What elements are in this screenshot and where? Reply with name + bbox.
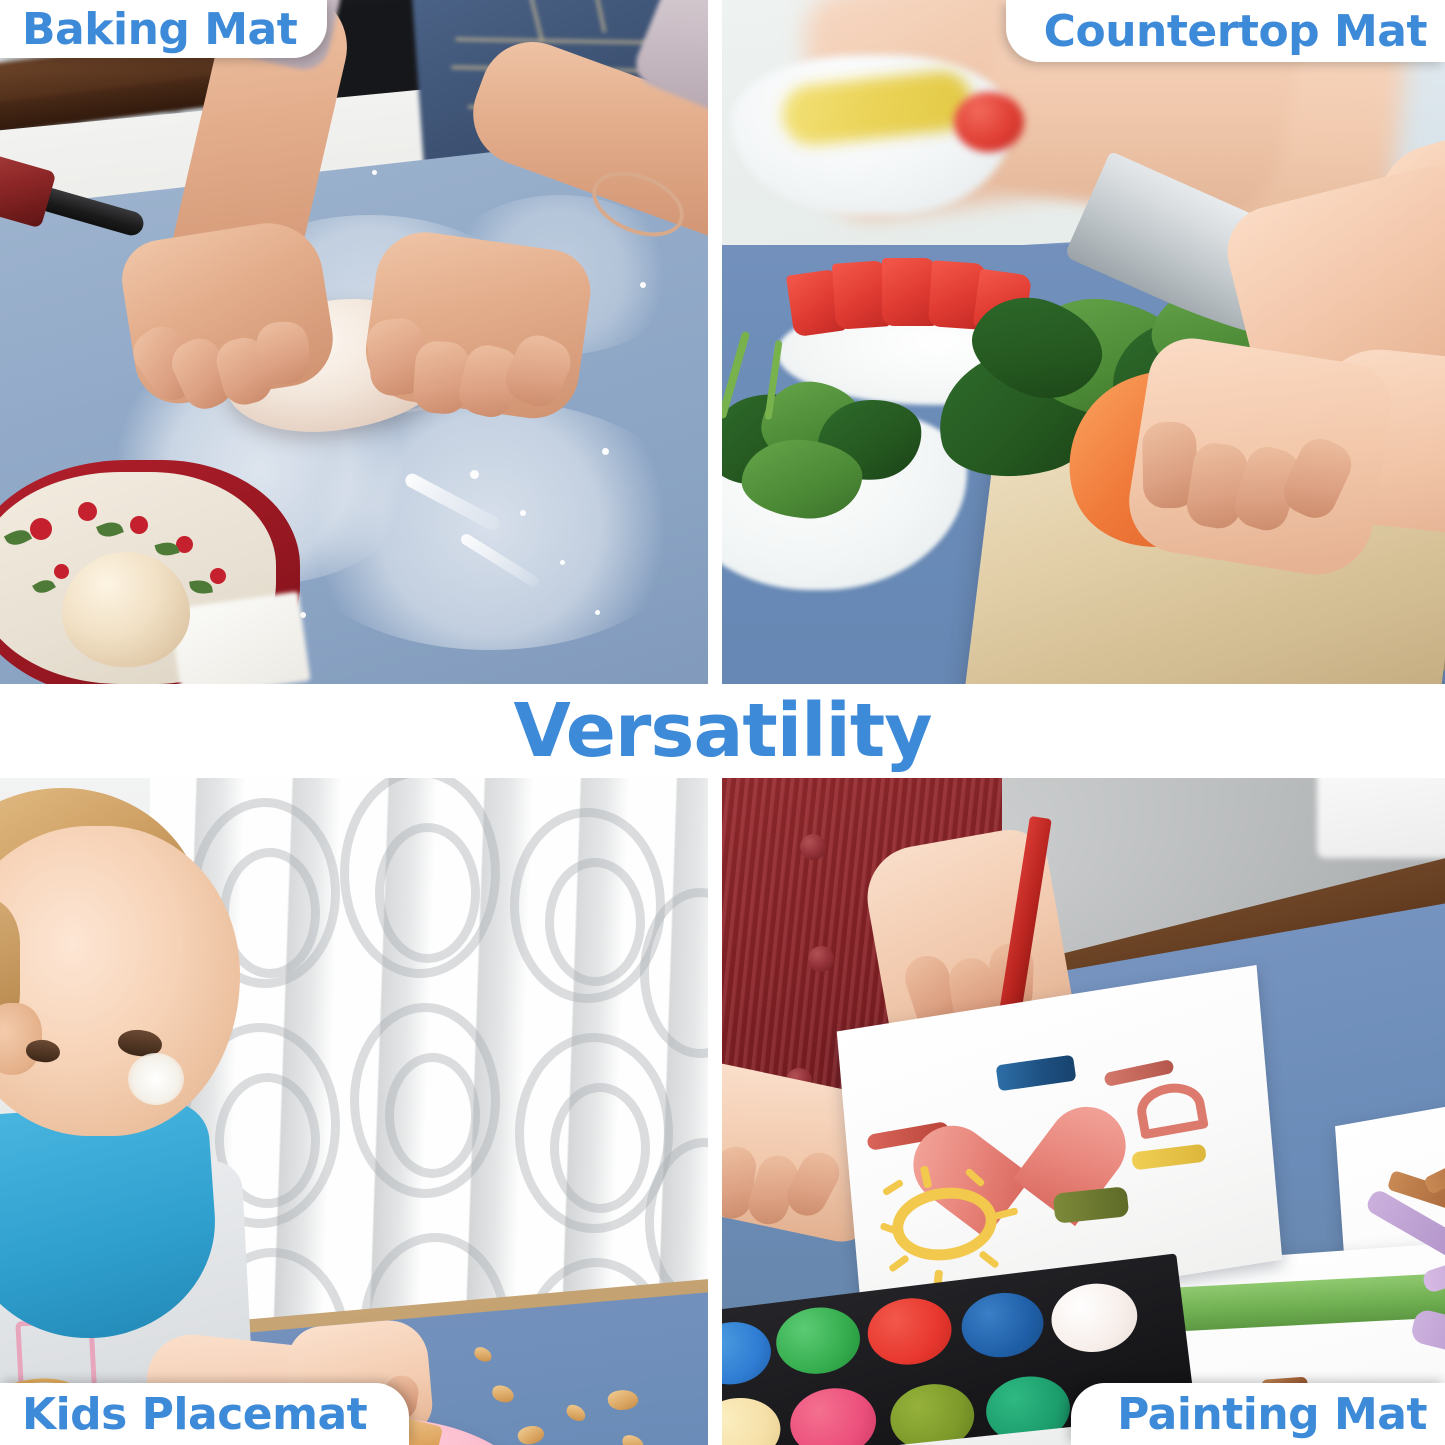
label-countertop-mat-text: Countertop Mat	[1044, 6, 1427, 57]
left-hand	[116, 215, 339, 409]
heart-painting	[940, 1059, 1094, 1187]
right-hand	[359, 226, 596, 424]
infographic-page: Baking Mat	[0, 0, 1445, 1445]
panel-painting-mat: Painting Mat	[722, 778, 1445, 1445]
countertop-mat-scene	[722, 0, 1445, 684]
tomato	[954, 92, 1024, 152]
label-baking-mat-text: Baking Mat	[22, 4, 297, 55]
baking-mat-scene	[0, 0, 708, 684]
kids-placemat-scene	[0, 778, 708, 1445]
label-baking-mat: Baking Mat	[0, 0, 327, 58]
panel-baking-mat: Baking Mat	[0, 0, 708, 684]
page-title: Versatility	[0, 684, 1445, 778]
food-on-face	[128, 1053, 184, 1105]
painting-mat-scene	[722, 778, 1445, 1445]
label-kids-placemat-text: Kids Placemat	[22, 1389, 367, 1440]
label-kids-placemat: Kids Placemat	[0, 1383, 409, 1445]
left-hand-holding-carrot	[1122, 332, 1398, 583]
background-cup	[1317, 778, 1445, 858]
label-painting-mat-text: Painting Mat	[1117, 1389, 1427, 1440]
label-painting-mat: Painting Mat	[1071, 1383, 1445, 1445]
vertical-divider-bottom	[708, 778, 722, 1445]
panel-countertop-mat: Countertop Mat	[722, 0, 1445, 684]
label-countertop-mat: Countertop Mat	[1006, 0, 1445, 62]
vertical-divider-top	[708, 0, 722, 684]
panel-kids-placemat: Kids Placemat	[0, 778, 708, 1445]
egg	[62, 552, 190, 667]
